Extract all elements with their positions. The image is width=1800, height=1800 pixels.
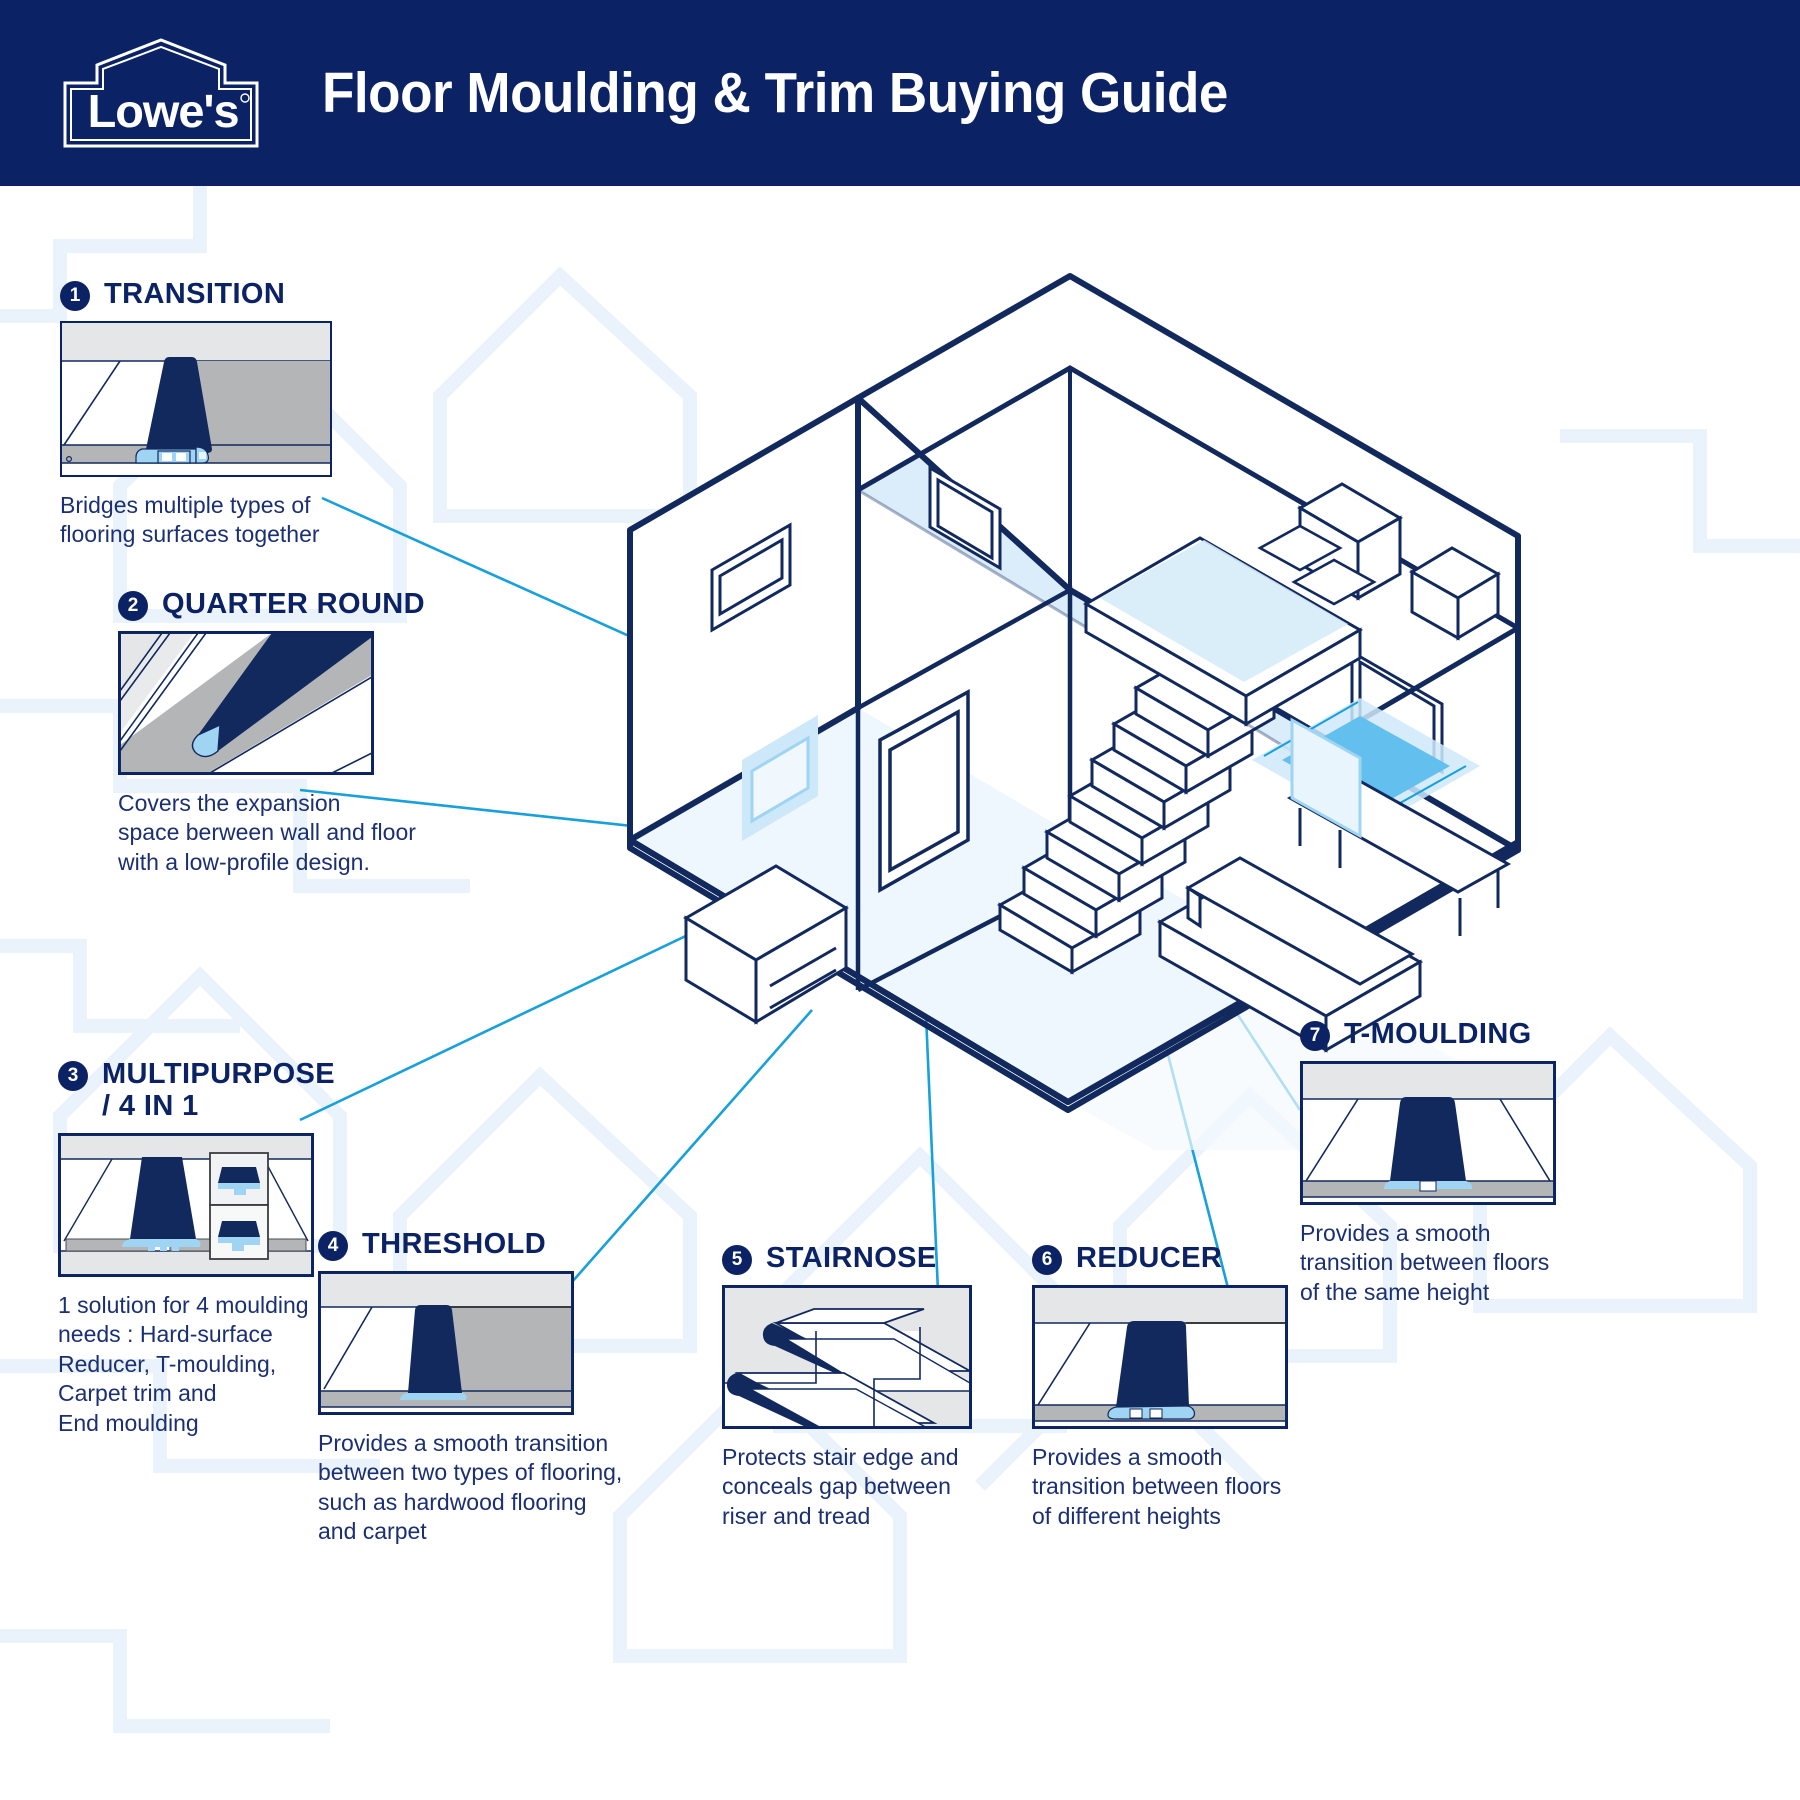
callout-title-multipurpose: MULTIPURPOSE / 4 IN 1 xyxy=(102,1058,335,1123)
callout-caption-multipurpose: 1 solution for 4 moulding needs : Hard-s… xyxy=(58,1291,358,1438)
badge-number-4: 4 xyxy=(318,1231,348,1261)
callout-title-stairnose: STAIRNOSE xyxy=(766,1242,937,1274)
figure-quarter-round-profile xyxy=(118,631,374,775)
callout-stairnose: 5 STAIRNOSE Pr xyxy=(722,1242,1022,1531)
badge-number-1: 1 xyxy=(60,281,90,311)
callout-title-threshold: THRESHOLD xyxy=(362,1228,546,1260)
callout-t-moulding: 7 T-MOULDING Provides a smooth transitio… xyxy=(1300,1018,1600,1307)
badge-number-3: 3 xyxy=(58,1061,88,1091)
callout-caption-reducer: Provides a smooth transition between flo… xyxy=(1032,1443,1332,1531)
figure-threshold-profile xyxy=(318,1271,574,1415)
callout-caption-stairnose: Protects stair edge and conceals gap bet… xyxy=(722,1443,1022,1531)
badge-number-2: 2 xyxy=(118,591,148,621)
badge-number-7: 7 xyxy=(1300,1021,1330,1051)
figure-multipurpose-profile xyxy=(58,1133,314,1277)
callout-threshold: 4 THRESHOLD Provides a smooth transition… xyxy=(318,1228,658,1547)
callout-caption-quarter-round: Covers the expansion space berween wall … xyxy=(118,789,458,877)
callout-title-transition: TRANSITION xyxy=(104,278,285,310)
infographic-canvas: Lowe's Floor Moulding & Trim Buying Guid… xyxy=(0,0,1800,1800)
callout-caption-transition: Bridges multiple types of flooring surfa… xyxy=(60,491,390,550)
badge-number-6: 6 xyxy=(1032,1245,1062,1275)
callout-title-reducer: REDUCER xyxy=(1076,1242,1222,1274)
figure-stairnose-profile xyxy=(722,1285,972,1429)
figure-transition-profile xyxy=(60,321,332,477)
callout-title-t-moulding: T-MOULDING xyxy=(1344,1018,1532,1050)
callout-quarter-round: 2 QUARTER ROUND Covers the expansion spa… xyxy=(118,588,458,877)
callout-caption-threshold: Provides a smooth transition between two… xyxy=(318,1429,658,1547)
callout-multipurpose: 3 MULTIPURPOSE / 4 IN 1 xyxy=(58,1058,358,1438)
callout-reducer: 6 REDUCER Provides a smooth transition b… xyxy=(1032,1242,1332,1531)
isometric-house-illustration xyxy=(600,200,1550,1150)
callout-title-quarter-round: QUARTER ROUND xyxy=(162,588,425,620)
callout-transition: 1 TRANSITION Bridges multiple types of f… xyxy=(60,278,390,550)
figure-reducer-profile xyxy=(1032,1285,1288,1429)
badge-number-5: 5 xyxy=(722,1245,752,1275)
figure-t-moulding-profile xyxy=(1300,1061,1556,1205)
callout-caption-t-moulding: Provides a smooth transition between flo… xyxy=(1300,1219,1600,1307)
